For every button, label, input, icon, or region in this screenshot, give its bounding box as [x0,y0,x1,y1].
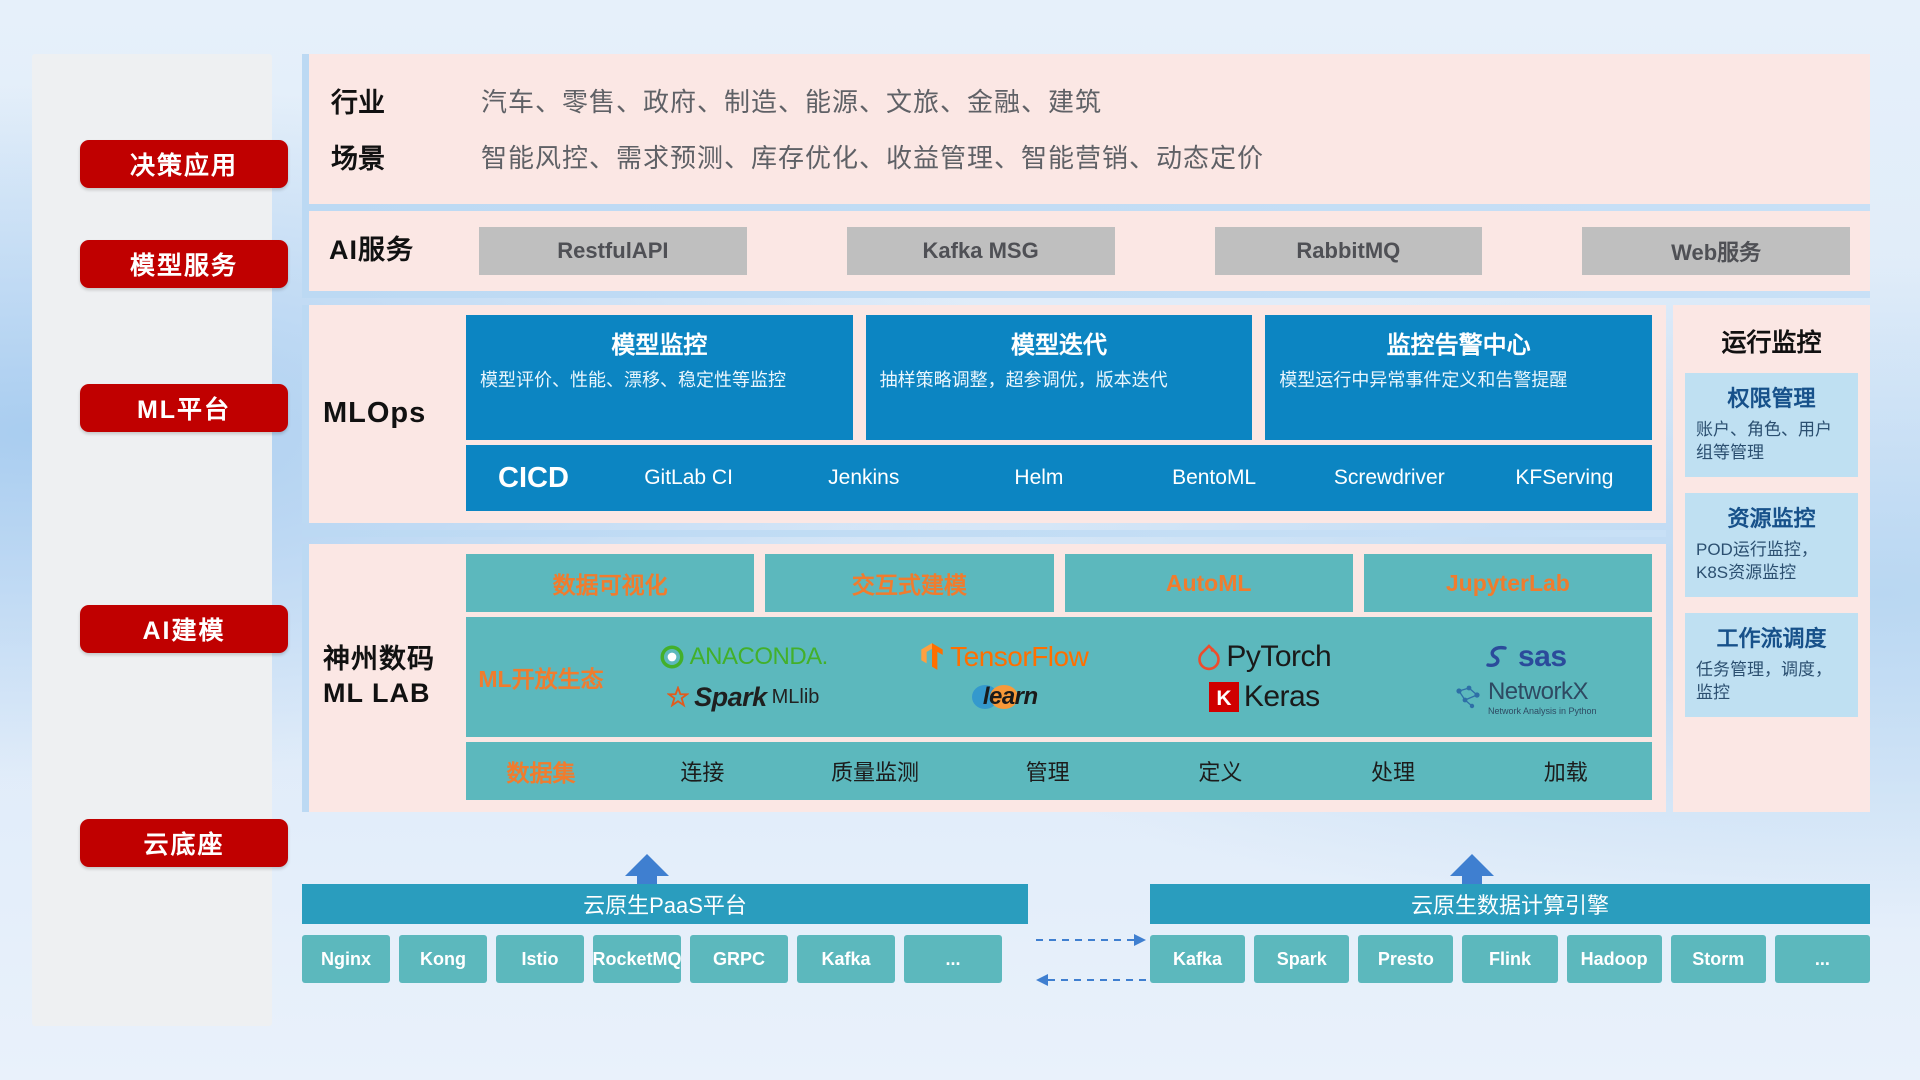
card-desc: POD运行监控，K8S资源监控 [1696,539,1847,585]
cicd-item-gitlab-ci[interactable]: GitLab CI [601,466,776,490]
mlops-cards: 模型监控 模型评价、性能、漂移、稳定性等监控 模型迭代 抽样策略调整，超参调优，… [466,315,1652,440]
card-desc: 模型运行中异常事件定义和告警提醒 [1279,368,1638,392]
chip-flink[interactable]: Flink [1462,935,1557,983]
rail-item-ml-platform[interactable]: ML平台 [80,384,288,432]
cloud-paas-group: 云原生PaaS平台 Nginx Kong Istio RocketMQ GRPC… [302,884,1028,983]
ml-ecosystem-label: ML开放生态 [466,660,616,694]
pytorch-mark [1197,643,1221,671]
card-title: 权限管理 [1696,381,1847,413]
tool-data-visualization[interactable]: 数据可视化 [466,554,754,612]
pytorch-label: PyTorch [1226,640,1331,674]
pytorch-logo: PyTorch [1197,640,1331,674]
spark-star-mark [667,686,689,708]
networkx-mark [1453,683,1483,711]
cicd-item-kfserving[interactable]: KFServing [1477,466,1652,490]
cicd-row: CICD GitLab CI Jenkins Helm BentoML Scre… [466,445,1652,511]
cicd-title: CICD [466,462,601,495]
industry-row: 行业 汽车、零售、政府、制造、能源、文旅、金融、建筑 [331,72,1848,128]
card-title: 监控告警中心 [1279,325,1638,360]
ml-ecosystem-row: ML开放生态 ANACONDA. [466,617,1652,737]
business-band: 行业 汽车、零售、政府、制造、能源、文旅、金融、建筑 场景 智能风控、需求预测、… [302,54,1870,204]
anaconda-logo: ANACONDA. [659,643,828,671]
chip-kafka[interactable]: Kafka [797,935,895,983]
ml-lab-label: 神州数码 ML LAB [323,554,466,800]
card-title: 资源监控 [1696,501,1847,533]
service-restful-api[interactable]: RestfulAPI [479,227,747,275]
chip-spark[interactable]: Spark [1254,935,1349,983]
cicd-item-helm[interactable]: Helm [951,466,1126,490]
dashed-connector-icon [1032,922,1150,998]
sas-logo: sas [1483,640,1567,674]
divider [302,291,1870,298]
networkx-label: NetworkX [1488,678,1597,706]
cloud-paas-title[interactable]: 云原生PaaS平台 [302,884,1028,924]
card-title: 工作流调度 [1696,621,1847,653]
chip-nginx[interactable]: Nginx [302,935,390,983]
card-title: 模型监控 [480,325,839,360]
card-desc: 抽样策略调整，超参调优，版本迭代 [880,368,1239,392]
cloud-compute-title[interactable]: 云原生数据计算引擎 [1150,884,1870,924]
rail-item-ai-modeling[interactable]: AI建模 [80,605,288,653]
divider [302,530,1666,537]
anaconda-label: ANACONDA. [690,643,828,671]
service-web[interactable]: Web服务 [1582,227,1850,275]
scikit-learn-logo: learn [970,683,1038,711]
cicd-item-bentoml[interactable]: BentoML [1127,466,1302,490]
main-column: 行业 汽车、零售、政府、制造、能源、文旅、金融、建筑 场景 智能风控、需求预测、… [302,54,1870,812]
card-title: 模型迭代 [880,325,1239,360]
rail-label: 决策应用 [130,146,238,182]
dataset-item-manage[interactable]: 管理 [961,755,1134,787]
chip-hadoop[interactable]: Hadoop [1567,935,1662,983]
dataset-row: 数据集 连接 质量监测 管理 定义 处理 加载 [466,742,1652,800]
monitoring-column: 运行监控 权限管理 账户、角色、用户组等管理 资源监控 POD运行监控，K8S资… [1673,305,1870,812]
cloud-compute-chips: Kafka Spark Presto Flink Hadoop Storm ..… [1150,935,1870,983]
industry-values: 汽车、零售、政府、制造、能源、文旅、金融、建筑 [481,82,1102,119]
service-rabbitmq[interactable]: RabbitMQ [1215,227,1483,275]
spark-label: Spark [694,682,767,713]
diagram-stage: 决策应用 模型服务 ML平台 AI建模 云底座 行业 汽车、零售、政府、制造、能… [0,0,1920,1080]
dataset-item-quality[interactable]: 质量监测 [789,755,962,787]
dataset-item-define[interactable]: 定义 [1134,755,1307,787]
tool-interactive-modeling[interactable]: 交互式建模 [765,554,1053,612]
scenario-values: 智能风控、需求预测、库存优化、收益管理、智能营销、动态定价 [481,138,1264,175]
chip-more-r[interactable]: ... [1775,935,1870,983]
ml-lab-tools: 数据可视化 交互式建模 AutoML JupyterLab [466,554,1652,612]
ai-service-items: RestfulAPI Kafka MSG RabbitMQ Web服务 [479,227,1850,275]
chip-storm[interactable]: Storm [1671,935,1766,983]
dataset-item-load[interactable]: 加载 [1479,755,1652,787]
chip-kong[interactable]: Kong [399,935,487,983]
mlops-card-model-iteration[interactable]: 模型迭代 抽样策略调整，超参调优，版本迭代 [866,315,1253,440]
scenario-label: 场景 [331,137,481,176]
rail-label: 云底座 [143,825,224,861]
networkx-tagline: Network Analysis in Python [1488,706,1597,716]
ml-lab-band: 神州数码 ML LAB 数据可视化 交互式建模 AutoML JupyterLa… [302,544,1666,812]
scenario-row: 场景 智能风控、需求预测、库存优化、收益管理、智能营销、动态定价 [331,128,1848,184]
tensorflow-logo: TensorFlow [919,641,1088,673]
monitoring-card-workflow[interactable]: 工作流调度 任务管理，调度，监控 [1685,613,1858,717]
card-desc: 任务管理，调度，监控 [1696,659,1847,705]
chip-istio[interactable]: Istio [496,935,584,983]
rail-label: ML平台 [137,390,231,426]
monitoring-card-permissions[interactable]: 权限管理 账户、角色、用户组等管理 [1685,373,1858,477]
tensorflow-label: TensorFlow [950,641,1088,673]
learn-label: learn [983,683,1038,711]
monitoring-card-resources[interactable]: 资源监控 POD运行监控，K8S资源监控 [1685,493,1858,597]
chip-grpc[interactable]: GRPC [690,935,788,983]
mlops-band: MLOps 模型监控 模型评价、性能、漂移、稳定性等监控 模型迭代 抽样策略调整… [302,305,1666,523]
rail-item-model-service[interactable]: 模型服务 [80,240,288,288]
ml-lab-label-line2: ML LAB [323,677,435,711]
platform-region: MLOps 模型监控 模型评价、性能、漂移、稳定性等监控 模型迭代 抽样策略调整… [302,305,1870,812]
sas-mark [1483,643,1513,671]
mlops-label: MLOps [323,315,466,511]
networkx-logo: NetworkX Network Analysis in Python [1453,678,1597,716]
mllib-label: MLlib [772,686,820,709]
card-desc: 账户、角色、用户组等管理 [1696,419,1847,465]
industry-label: 行业 [331,81,481,120]
svg-text:K: K [1216,687,1231,710]
rail-item-cloud-base[interactable]: 云底座 [80,819,288,867]
monitoring-title: 运行监控 [1685,323,1858,359]
rail-item-decision-app[interactable]: 决策应用 [80,140,288,188]
tool-automl[interactable]: AutoML [1065,554,1353,612]
mlops-card-model-monitoring[interactable]: 模型监控 模型评价、性能、漂移、稳定性等监控 [466,315,853,440]
dataset-item-connect[interactable]: 连接 [616,755,789,787]
mlops-card-alert-center[interactable]: 监控告警中心 模型运行中异常事件定义和告警提醒 [1265,315,1652,440]
chip-rocketmq[interactable]: RocketMQ [593,935,681,983]
tensorflow-mark [919,642,945,672]
dataset-label: 数据集 [466,754,616,788]
service-kafka-msg[interactable]: Kafka MSG [847,227,1115,275]
ml-lab-label-line1: 神州数码 [323,643,435,677]
card-desc: 模型评价、性能、漂移、稳定性等监控 [480,368,839,392]
keras-label: Keras [1244,680,1320,714]
dataset-item-process[interactable]: 处理 [1307,755,1480,787]
anaconda-mark [659,644,685,670]
keras-mark: K [1209,682,1239,712]
chip-more[interactable]: ... [904,935,1002,983]
rail-label: 模型服务 [130,246,238,282]
keras-logo: K Keras [1209,680,1320,714]
rail-label: AI建模 [142,611,225,647]
ai-service-label: AI服务 [329,234,479,268]
cicd-item-jenkins[interactable]: Jenkins [776,466,951,490]
cicd-item-screwdriver[interactable]: Screwdriver [1302,466,1477,490]
divider [302,204,1870,211]
chip-presto[interactable]: Presto [1358,935,1453,983]
cloud-compute-group: 云原生数据计算引擎 Kafka Spark Presto Flink Hadoo… [1150,884,1870,983]
left-rail: 决策应用 模型服务 ML平台 AI建模 云底座 [32,54,272,1026]
spark-mllib-logo: Spark MLlib [667,682,819,713]
cloud-base-region: 云原生PaaS平台 Nginx Kong Istio RocketMQ GRPC… [302,884,1870,1034]
cloud-paas-chips: Nginx Kong Istio RocketMQ GRPC Kafka ... [302,935,1028,983]
ai-service-band: AI服务 RestfulAPI Kafka MSG RabbitMQ Web服务 [302,211,1870,291]
chip-kafka-r[interactable]: Kafka [1150,935,1245,983]
sas-label: sas [1518,640,1567,674]
tool-jupyterlab[interactable]: JupyterLab [1364,554,1652,612]
